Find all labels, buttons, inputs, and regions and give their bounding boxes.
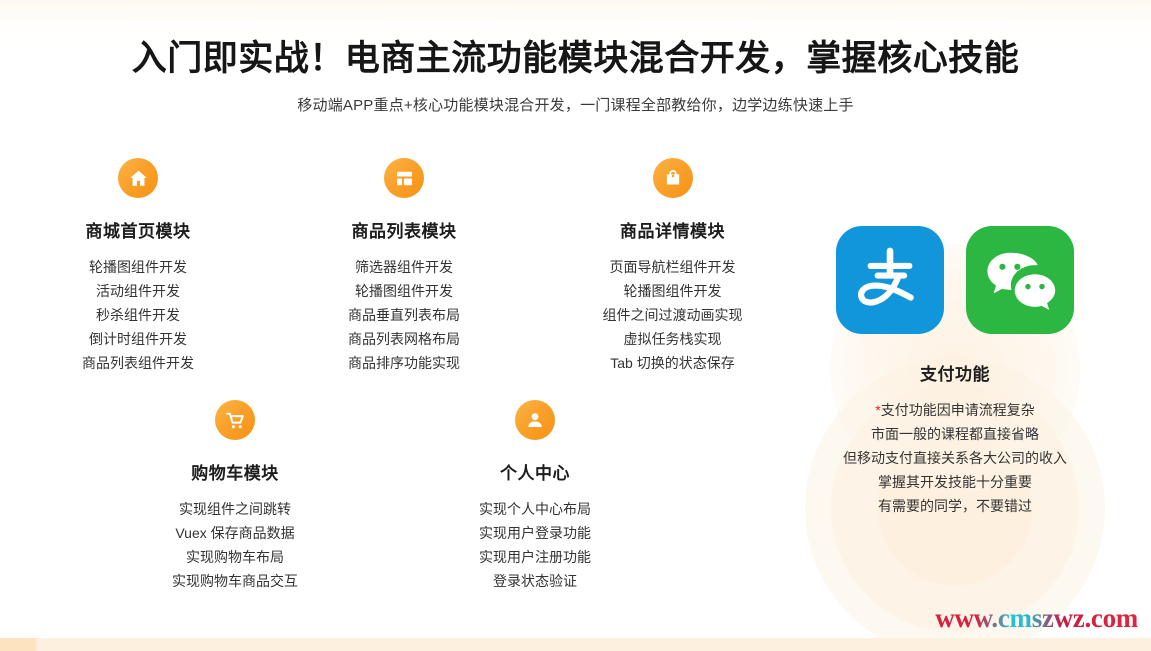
payment-note-list: *支付功能因申请流程复杂 市面一般的课程都直接省略 但移动支付直接关系各大公司的… [790,398,1120,518]
list-item: 实现购物车布局 [135,545,335,569]
shopping-bag-icon [653,158,693,198]
module-title: 商城首页模块 [38,221,238,243]
list-item: 秒杀组件开发 [38,303,238,327]
list-item: 商品列表组件开发 [38,351,238,375]
layout-grid-icon [384,158,424,198]
bottom-color-band-accent [0,638,36,651]
page-title: 入门即实战！电商主流功能模块混合开发，掌握核心技能 [0,36,1151,82]
module-card-cart[interactable]: 购物车模块 实现组件之间跳转 Vuex 保存商品数据 实现购物车布局 实现购物车… [135,400,335,593]
list-item: 实现用户登录功能 [435,521,635,545]
module-card-home[interactable]: 商城首页模块 轮播图组件开发 活动组件开发 秒杀组件开发 倒计时组件开发 商品列… [38,158,238,375]
list-item: 实现组件之间跳转 [135,497,335,521]
bottom-color-band [0,638,1151,651]
payment-feature-panel[interactable]: 支付功能 *支付功能因申请流程复杂 市面一般的课程都直接省略 但移动支付直接关系… [790,208,1120,558]
list-item: 但移动支付直接关系各大公司的收入 [790,446,1120,470]
list-item: Tab 切换的状态保存 [570,351,775,375]
list-item: 登录状态验证 [435,569,635,593]
list-item: 页面导航栏组件开发 [570,255,775,279]
list-item: 商品列表网格布局 [304,327,504,351]
list-item: 轮播图组件开发 [304,279,504,303]
page-header: 入门即实战！电商主流功能模块混合开发，掌握核心技能 移动端APP重点+核心功能模… [0,36,1151,116]
module-item-list: 实现个人中心布局 实现用户登录功能 实现用户注册功能 登录状态验证 [435,497,635,593]
module-title: 购物车模块 [135,463,335,485]
list-item: 虚拟任务栈实现 [570,327,775,351]
module-title: 商品列表模块 [304,221,504,243]
site-watermark: www.cmszwz.com [935,603,1138,634]
list-item: 轮播图组件开发 [570,279,775,303]
top-gradient-wash [0,0,1151,26]
payment-logo-row [790,208,1120,334]
module-item-list: 轮播图组件开发 活动组件开发 秒杀组件开发 倒计时组件开发 商品列表组件开发 [38,255,238,375]
module-item-list: 实现组件之间跳转 Vuex 保存商品数据 实现购物车布局 实现购物车商品交互 [135,497,335,593]
list-item: 商品垂直列表布局 [304,303,504,327]
list-item: 轮播图组件开发 [38,255,238,279]
list-item-text: 支付功能因申请流程复杂 [881,402,1035,418]
module-title: 个人中心 [435,463,635,485]
list-item: 实现用户注册功能 [435,545,635,569]
payment-title: 支付功能 [790,364,1120,386]
list-item: 有需要的同学，不要错过 [790,494,1120,518]
list-item: Vuex 保存商品数据 [135,521,335,545]
module-item-list: 筛选器组件开发 轮播图组件开发 商品垂直列表布局 商品列表网格布局 商品排序功能… [304,255,504,375]
wechat-logo [966,226,1074,334]
page-subtitle: 移动端APP重点+核心功能模块混合开发，一门课程全部教给你，边学边练快速上手 [0,96,1151,116]
list-item: 商品排序功能实现 [304,351,504,375]
module-card-user-center[interactable]: 个人中心 实现个人中心布局 实现用户登录功能 实现用户注册功能 登录状态验证 [435,400,635,593]
list-item: 实现个人中心布局 [435,497,635,521]
list-item: 实现购物车商品交互 [135,569,335,593]
shopping-cart-icon [215,400,255,440]
list-item: 组件之间过渡动画实现 [570,303,775,327]
page-root: 入门即实战！电商主流功能模块混合开发，掌握核心技能 移动端APP重点+核心功能模… [0,0,1151,651]
list-item-with-asterisk: *支付功能因申请流程复杂 [790,398,1120,422]
alipay-logo [836,226,944,334]
module-title: 商品详情模块 [570,221,775,243]
module-card-product-detail[interactable]: 商品详情模块 页面导航栏组件开发 轮播图组件开发 组件之间过渡动画实现 虚拟任务… [570,158,775,375]
module-card-product-list[interactable]: 商品列表模块 筛选器组件开发 轮播图组件开发 商品垂直列表布局 商品列表网格布局… [304,158,504,375]
home-icon [118,158,158,198]
list-item: 筛选器组件开发 [304,255,504,279]
list-item: 倒计时组件开发 [38,327,238,351]
module-item-list: 页面导航栏组件开发 轮播图组件开发 组件之间过渡动画实现 虚拟任务栈实现 Tab… [570,255,775,375]
user-icon [515,400,555,440]
list-item: 市面一般的课程都直接省略 [790,422,1120,446]
list-item: 活动组件开发 [38,279,238,303]
list-item: 掌握其开发技能十分重要 [790,470,1120,494]
